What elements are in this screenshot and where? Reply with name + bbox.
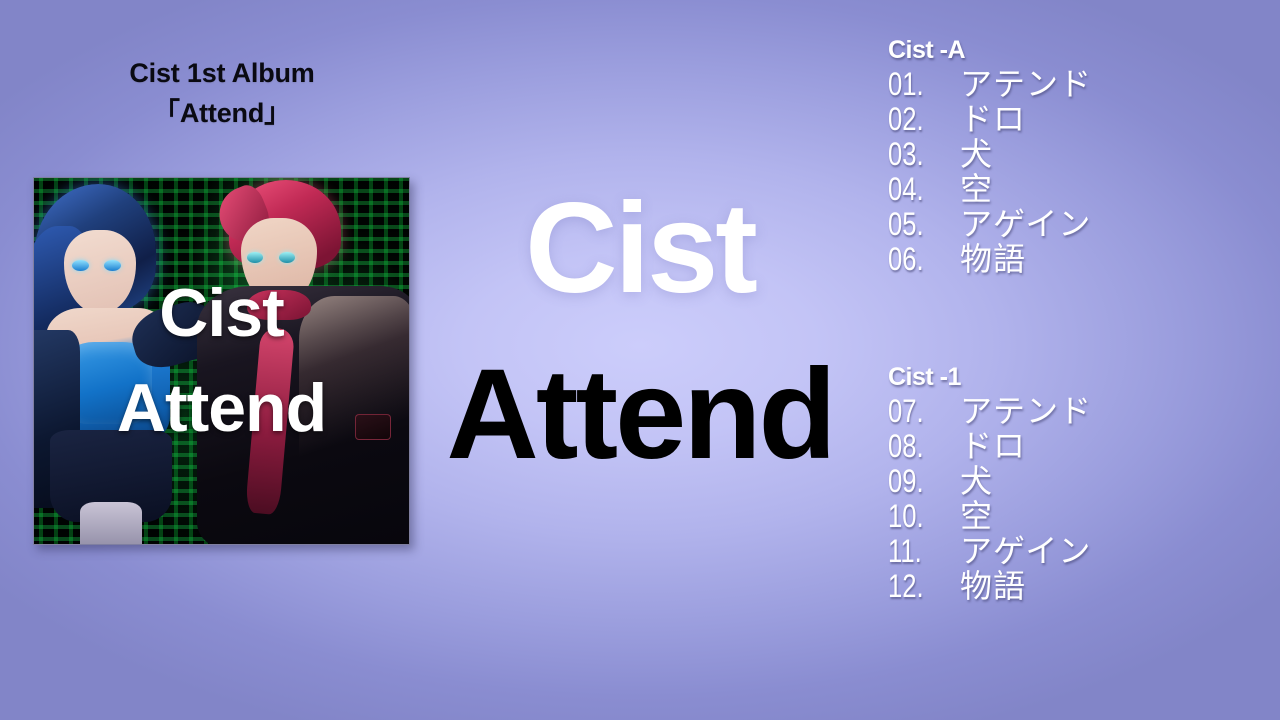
track-number: 02. (888, 102, 946, 137)
track-row[interactable]: 03. 犬 (888, 137, 1260, 172)
track-row[interactable]: 08. ドロ (888, 429, 1260, 464)
pink-character-eye-left (247, 252, 263, 263)
album-art-caption-line1: Cist (34, 279, 409, 347)
track-title: 物語 (960, 242, 1260, 277)
track-number: 12. (888, 569, 946, 604)
video-frame: Cist 1st Album 「Attend」 (0, 0, 1280, 720)
album-art-caption-line2: Attend (34, 374, 409, 442)
track-number: 04. (888, 172, 946, 207)
track-number: 10. (888, 499, 946, 534)
track-number: 06. (888, 242, 946, 277)
album-header-line1: Cist 1st Album (33, 58, 411, 89)
track-title: 物語 (960, 569, 1260, 604)
track-number: 03. (888, 137, 946, 172)
track-row[interactable]: 11. アゲイン (888, 534, 1260, 569)
tracklist-cist-a: Cist -A 01. アテンド 02. ドロ 03. 犬 04. 空 05. … (888, 36, 1260, 277)
track-number: 01. (888, 67, 946, 102)
album-header: Cist 1st Album 「Attend」 (33, 58, 411, 129)
track-title: ドロ (960, 102, 1260, 137)
track-row[interactable]: 09. 犬 (888, 464, 1260, 499)
track-title: 犬 (960, 137, 1260, 172)
tracklist-1-title: Cist -1 (888, 363, 1260, 392)
track-number: 05. (888, 207, 946, 242)
track-row[interactable]: 04. 空 (888, 172, 1260, 207)
track-title: アテンド (960, 394, 1260, 429)
album-header-line2: 「Attend」 (33, 98, 411, 129)
track-row[interactable]: 07. アテンド (888, 394, 1260, 429)
track-title: 犬 (960, 464, 1260, 499)
track-number: 08. (888, 429, 946, 464)
track-row[interactable]: 01. アテンド (888, 67, 1260, 102)
center-wordmark: Cist Attend (430, 185, 850, 479)
track-number: 11. (888, 534, 946, 569)
blue-character-eye-left (72, 260, 89, 271)
blue-character-leg (80, 502, 142, 545)
tracklist-a-title: Cist -A (888, 36, 1260, 65)
track-title: アゲイン (960, 534, 1260, 569)
track-title: 空 (960, 172, 1260, 207)
album-cover-art: Cist Attend (33, 177, 410, 545)
track-row[interactable]: 10. 空 (888, 499, 1260, 534)
blue-character-eye-right (104, 260, 121, 271)
track-number: 09. (888, 464, 946, 499)
track-row[interactable]: 02. ドロ (888, 102, 1260, 137)
track-number: 07. (888, 394, 946, 429)
track-title: アテンド (960, 67, 1260, 102)
track-title: 空 (960, 499, 1260, 534)
track-title: ドロ (960, 429, 1260, 464)
pink-character-eye-right (279, 252, 295, 263)
tracklist-cist-1: Cist -1 07. アテンド 08. ドロ 09. 犬 10. 空 11. … (888, 363, 1260, 604)
wordmark-album: Attend (430, 351, 850, 479)
track-row[interactable]: 06. 物語 (888, 242, 1260, 277)
wordmark-artist: Cist (430, 185, 850, 313)
track-row[interactable]: 05. アゲイン (888, 207, 1260, 242)
track-title: アゲイン (960, 207, 1260, 242)
character-pink-haired (203, 178, 410, 545)
character-blue-haired (33, 184, 218, 545)
track-row[interactable]: 12. 物語 (888, 569, 1260, 604)
